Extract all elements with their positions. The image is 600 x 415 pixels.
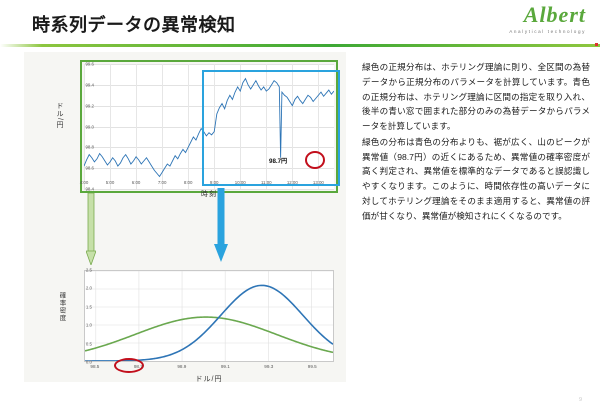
timeseries-x-tick: 13:00	[313, 180, 324, 185]
density-x-tick: 98.5	[90, 364, 99, 369]
blue-connector-arrow	[214, 188, 228, 262]
density-y-tick: 1.0	[70, 323, 92, 328]
density-x-tick: 99.1	[221, 364, 230, 369]
timeseries-x-tick: 5:00	[106, 180, 115, 185]
timeseries-x-tick: 8:00	[184, 180, 193, 185]
timeseries-y-tick: 99.2	[70, 103, 94, 108]
anomaly-highlight-circle	[305, 151, 325, 169]
albert-logo: Albert Analytical technology	[509, 4, 586, 34]
timeseries-x-tick: 12:00	[287, 180, 298, 185]
density-x-tick: 99.5	[308, 364, 317, 369]
timeseries-y-axis-label: ドル/円	[54, 102, 64, 129]
divider-dot	[595, 43, 598, 46]
density-y-tick: 2.0	[70, 286, 92, 291]
explanation-text: 緑色の正規分布は、ホテリング理論に則り、全区間の為替データから正規分布のパラメー…	[362, 60, 590, 225]
density-x-tick: 99.3	[264, 364, 273, 369]
paragraph-1: 緑色の正規分布は、ホテリング理論に則り、全区間の為替データから正規分布のパラメー…	[362, 60, 590, 134]
page-title: 時系列データの異常検知	[32, 11, 236, 37]
header-divider	[0, 44, 600, 47]
timeseries-y-tick: 98.6	[70, 166, 94, 171]
density-x-axis-label: ドル/円	[84, 374, 334, 384]
density-y-tick: 0.0	[70, 360, 92, 365]
density-curves	[85, 271, 333, 361]
timeseries-x-axis-label: 時刻	[84, 189, 334, 199]
density-y-axis-label: 確率密度	[56, 292, 66, 322]
figure-panel: ドル/円 98.7円 時刻 確率密度 ドル/円 99.699.499.299.0…	[24, 52, 346, 382]
blue-window-box	[202, 70, 340, 186]
timeseries-y-tick: 99.4	[70, 82, 94, 87]
timeseries-x-tick: 9:00	[210, 180, 219, 185]
timeseries-y-tick: 99.0	[70, 124, 94, 129]
slide-header: 時系列データの異常検知 Albert Analytical technology	[0, 0, 600, 44]
density-y-tick: 1.5	[70, 304, 92, 309]
timeseries-y-tick: 98.8	[70, 145, 94, 150]
density-y-tick: 2.5	[70, 268, 92, 273]
timeseries-x-tick: 7:00	[158, 180, 167, 185]
timeseries-y-tick: 99.6	[70, 62, 94, 67]
timeseries-y-tick: 98.4	[70, 187, 94, 192]
timeseries-x-tick: 10:00	[235, 180, 246, 185]
density-x-tick: 98.9	[177, 364, 186, 369]
density-y-tick: 0.5	[70, 341, 92, 346]
density-chart	[84, 270, 334, 362]
anomaly-value-label: 98.7円	[269, 156, 287, 165]
timeseries-x-tick: 11:00	[261, 180, 272, 185]
page-number: 9	[579, 397, 582, 403]
density-x-tick: 98.7	[134, 364, 143, 369]
logo-tagline: Analytical technology	[509, 29, 586, 34]
green-connector-arrow	[86, 193, 96, 265]
timeseries-x-tick: 4:00	[80, 180, 89, 185]
slide: 時系列データの異常検知 Albert Analytical technology…	[0, 0, 600, 415]
paragraph-2: 緑色の分布は青色の分布よりも、裾が広く、山のピークが異常値（98.7円）の近くに…	[362, 135, 590, 224]
logo-wordmark: Albert	[509, 4, 586, 26]
timeseries-x-tick: 6:00	[132, 180, 141, 185]
